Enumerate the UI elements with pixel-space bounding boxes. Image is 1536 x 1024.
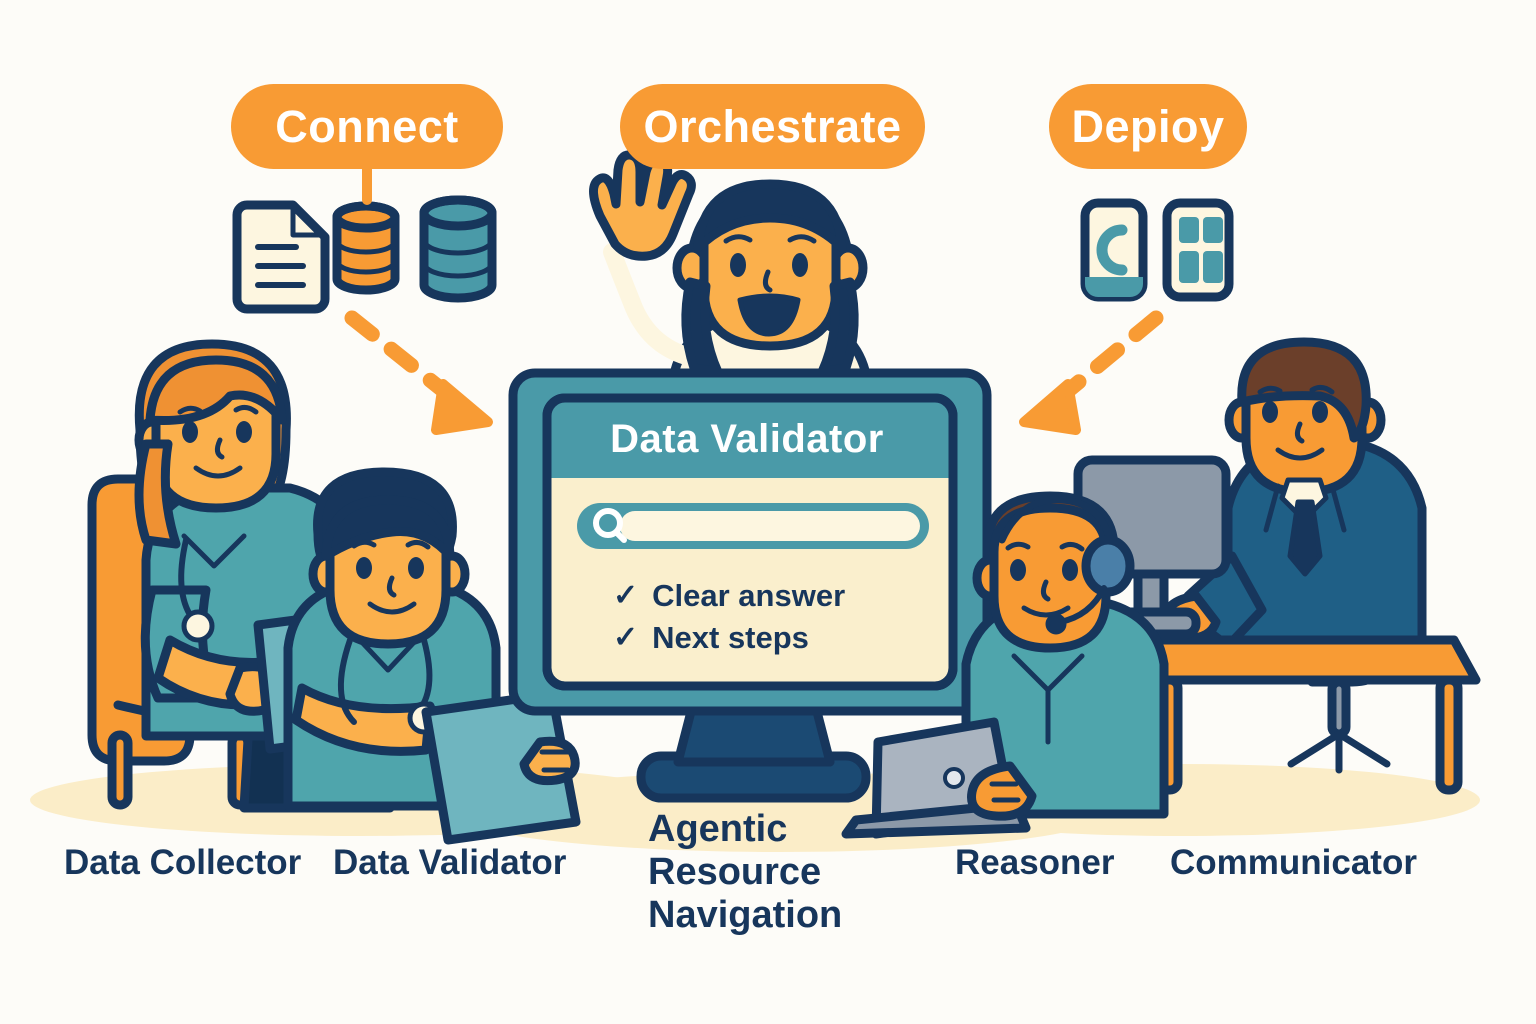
badge-orchestrate[interactable]: Orchestrate (620, 84, 925, 169)
document-icon (237, 205, 325, 309)
main-title-line-1: Agentic (648, 808, 908, 851)
database-teal-icon (424, 200, 492, 298)
caption-reasoner: Reasoner (955, 843, 1115, 883)
dashboard-grid-icon (1167, 203, 1229, 297)
main-title: Agentic Resource Navigation (648, 808, 908, 937)
screen-bullet-label: Clear answer (652, 578, 845, 614)
main-title-line-3: Navigation (648, 894, 908, 937)
main-title-line-2: Resource (648, 851, 908, 894)
database-orange-icon (337, 206, 395, 290)
badge-deploy[interactable]: Depioy (1049, 84, 1247, 169)
screen-bullet-clear-answer: ✓ Clear answer (613, 578, 845, 614)
screen-bullet-next-steps: ✓ Next steps (613, 620, 809, 656)
screen-app-title: Data Validator (567, 415, 927, 463)
mobile-phone-icon (1085, 203, 1143, 297)
badge-orchestrate-label: Orchestrate (643, 101, 901, 153)
screen-bullet-label: Next steps (652, 620, 809, 656)
caption-data-validator: Data Validator (333, 843, 566, 883)
badge-connect[interactable]: Connect (231, 84, 503, 169)
caption-data-collector: Data Collector (64, 843, 301, 883)
check-icon: ✓ (613, 581, 638, 611)
check-icon: ✓ (613, 623, 638, 653)
caption-communicator: Communicator (1170, 843, 1417, 883)
badge-deploy-label: Depioy (1071, 101, 1224, 153)
badge-connect-label: Connect (275, 101, 459, 153)
